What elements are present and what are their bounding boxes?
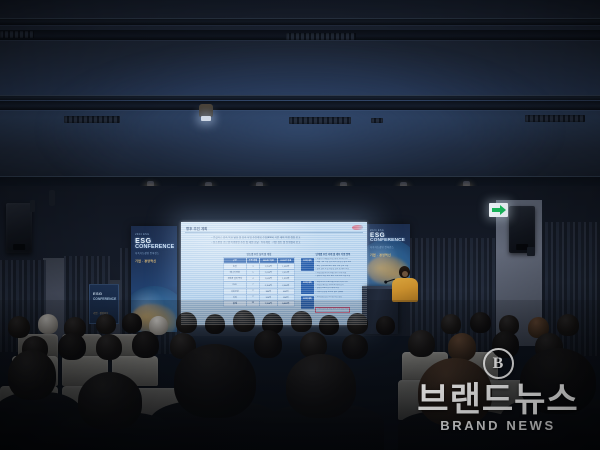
audience-head bbox=[291, 311, 312, 332]
slide-bullet: 탄소중립 로드맵 이행방안 추진 및 재원 조달 · 투자계획 · 기반 검토 … bbox=[211, 241, 357, 246]
ceiling-vent-grille bbox=[286, 33, 356, 40]
slide-logo bbox=[352, 225, 363, 230]
ceiling bbox=[0, 0, 600, 196]
speaker-mount bbox=[527, 247, 535, 256]
banner-tagline: 지속가능경영 컨퍼런스 bbox=[135, 251, 174, 255]
loudspeaker-right bbox=[509, 206, 535, 253]
beam-highlight bbox=[0, 176, 600, 177]
speaker-presenter bbox=[392, 266, 418, 302]
audience-head bbox=[38, 314, 58, 334]
audience-head bbox=[233, 310, 255, 332]
audience-head bbox=[96, 334, 122, 360]
banner-subtitle: CONFERENCE bbox=[370, 239, 407, 244]
ceiling-glow bbox=[40, 40, 560, 190]
beam-highlight bbox=[0, 95, 600, 96]
audience-head bbox=[205, 314, 225, 334]
ceiling-vent-grille bbox=[64, 116, 120, 123]
watermark-english: BRAND NEWS bbox=[404, 418, 592, 433]
stand-sign-title: ESG bbox=[93, 292, 102, 296]
audience-head bbox=[122, 313, 142, 333]
watermark-korean: 브랜드뉴스 bbox=[404, 383, 592, 417]
ceiling-vent-grille bbox=[0, 31, 34, 38]
chapter-item: 지속가능경영 보고서 발간 정례화 bbox=[315, 291, 363, 294]
slide-left-caption: 연도별 추진 실적 및 계획 bbox=[223, 252, 295, 256]
ceiling-vent-grille bbox=[525, 115, 585, 122]
speaker-mount bbox=[30, 200, 35, 212]
banner-tagline: 지속가능경영 컨퍼런스 bbox=[370, 245, 407, 249]
loudspeaker-left bbox=[6, 203, 32, 253]
audience-head bbox=[319, 315, 339, 335]
banner-kicker: 2024 ESG bbox=[370, 229, 407, 232]
speaker-face bbox=[402, 271, 408, 277]
slide-bullet-list: 온실가스 감축 목표 달성 및 감축 사업 추진계획 수립(ESG) 기준 대비… bbox=[211, 236, 357, 246]
chapter-item: 협력사 대상 탄소 관리 지원 프로그램 운영 bbox=[315, 275, 363, 278]
audience-head bbox=[254, 330, 282, 358]
audience-head bbox=[8, 316, 30, 338]
slide-right-caption: 단계별 추진 과제 및 세부 이행 항목 bbox=[303, 252, 363, 256]
audience-head bbox=[376, 316, 395, 335]
conference-photo: 2024 ESG ESG CONFERENCE 지속가능경영 컨퍼런스 기업 ·… bbox=[0, 0, 600, 450]
banner-kicker: 2024 ESG bbox=[135, 233, 174, 236]
exit-sign bbox=[489, 203, 508, 217]
chapter-tag: 1단계 계획 bbox=[301, 258, 314, 271]
audience-head bbox=[58, 333, 86, 360]
banner-date: 기업 · 경영혁신 bbox=[135, 259, 174, 263]
audience-head-foreground bbox=[286, 354, 356, 418]
chapter-tag: 2단계 계획 bbox=[301, 281, 314, 294]
slide-chapter: 1단계 계획 온실가스 배출량 산정 체계 고도화 추진 배출 기준 적용 범위… bbox=[301, 258, 363, 278]
ceiling-beam bbox=[0, 101, 600, 110]
audience-head bbox=[96, 314, 116, 334]
slide-title-rule bbox=[185, 232, 363, 233]
audience-head-foreground bbox=[78, 372, 142, 430]
audience-head bbox=[8, 350, 56, 400]
watermark: B 브랜드뉴스 BRAND NEWS bbox=[404, 348, 592, 440]
audience-head bbox=[132, 331, 159, 358]
audience-head-foreground bbox=[174, 344, 256, 418]
slide-title: 향후 추진 계획 bbox=[186, 226, 207, 231]
ceiling-spotlight bbox=[199, 104, 213, 117]
audience-head bbox=[342, 334, 368, 359]
speaker-body bbox=[392, 278, 418, 302]
ceiling-bracket bbox=[49, 190, 55, 206]
ceiling-vent-grille bbox=[289, 117, 351, 124]
ceiling-beam bbox=[0, 18, 600, 25]
audience-head bbox=[441, 314, 461, 334]
audience-head bbox=[347, 313, 368, 334]
beam-highlight bbox=[0, 18, 600, 19]
audience-head bbox=[470, 312, 491, 333]
banner-date: 기업 · 경영혁신 bbox=[370, 253, 407, 257]
audience-head bbox=[176, 312, 197, 333]
audience-head bbox=[557, 314, 579, 336]
slide-chapter: 2단계 계획 재생에너지 전환 비율 단계적 확대 추진 사업장 폐기물 자원순… bbox=[301, 281, 363, 295]
brand-badge-icon: B bbox=[483, 348, 514, 379]
banner-subtitle: CONFERENCE bbox=[135, 245, 174, 250]
ceiling-vent-grille bbox=[371, 118, 383, 123]
